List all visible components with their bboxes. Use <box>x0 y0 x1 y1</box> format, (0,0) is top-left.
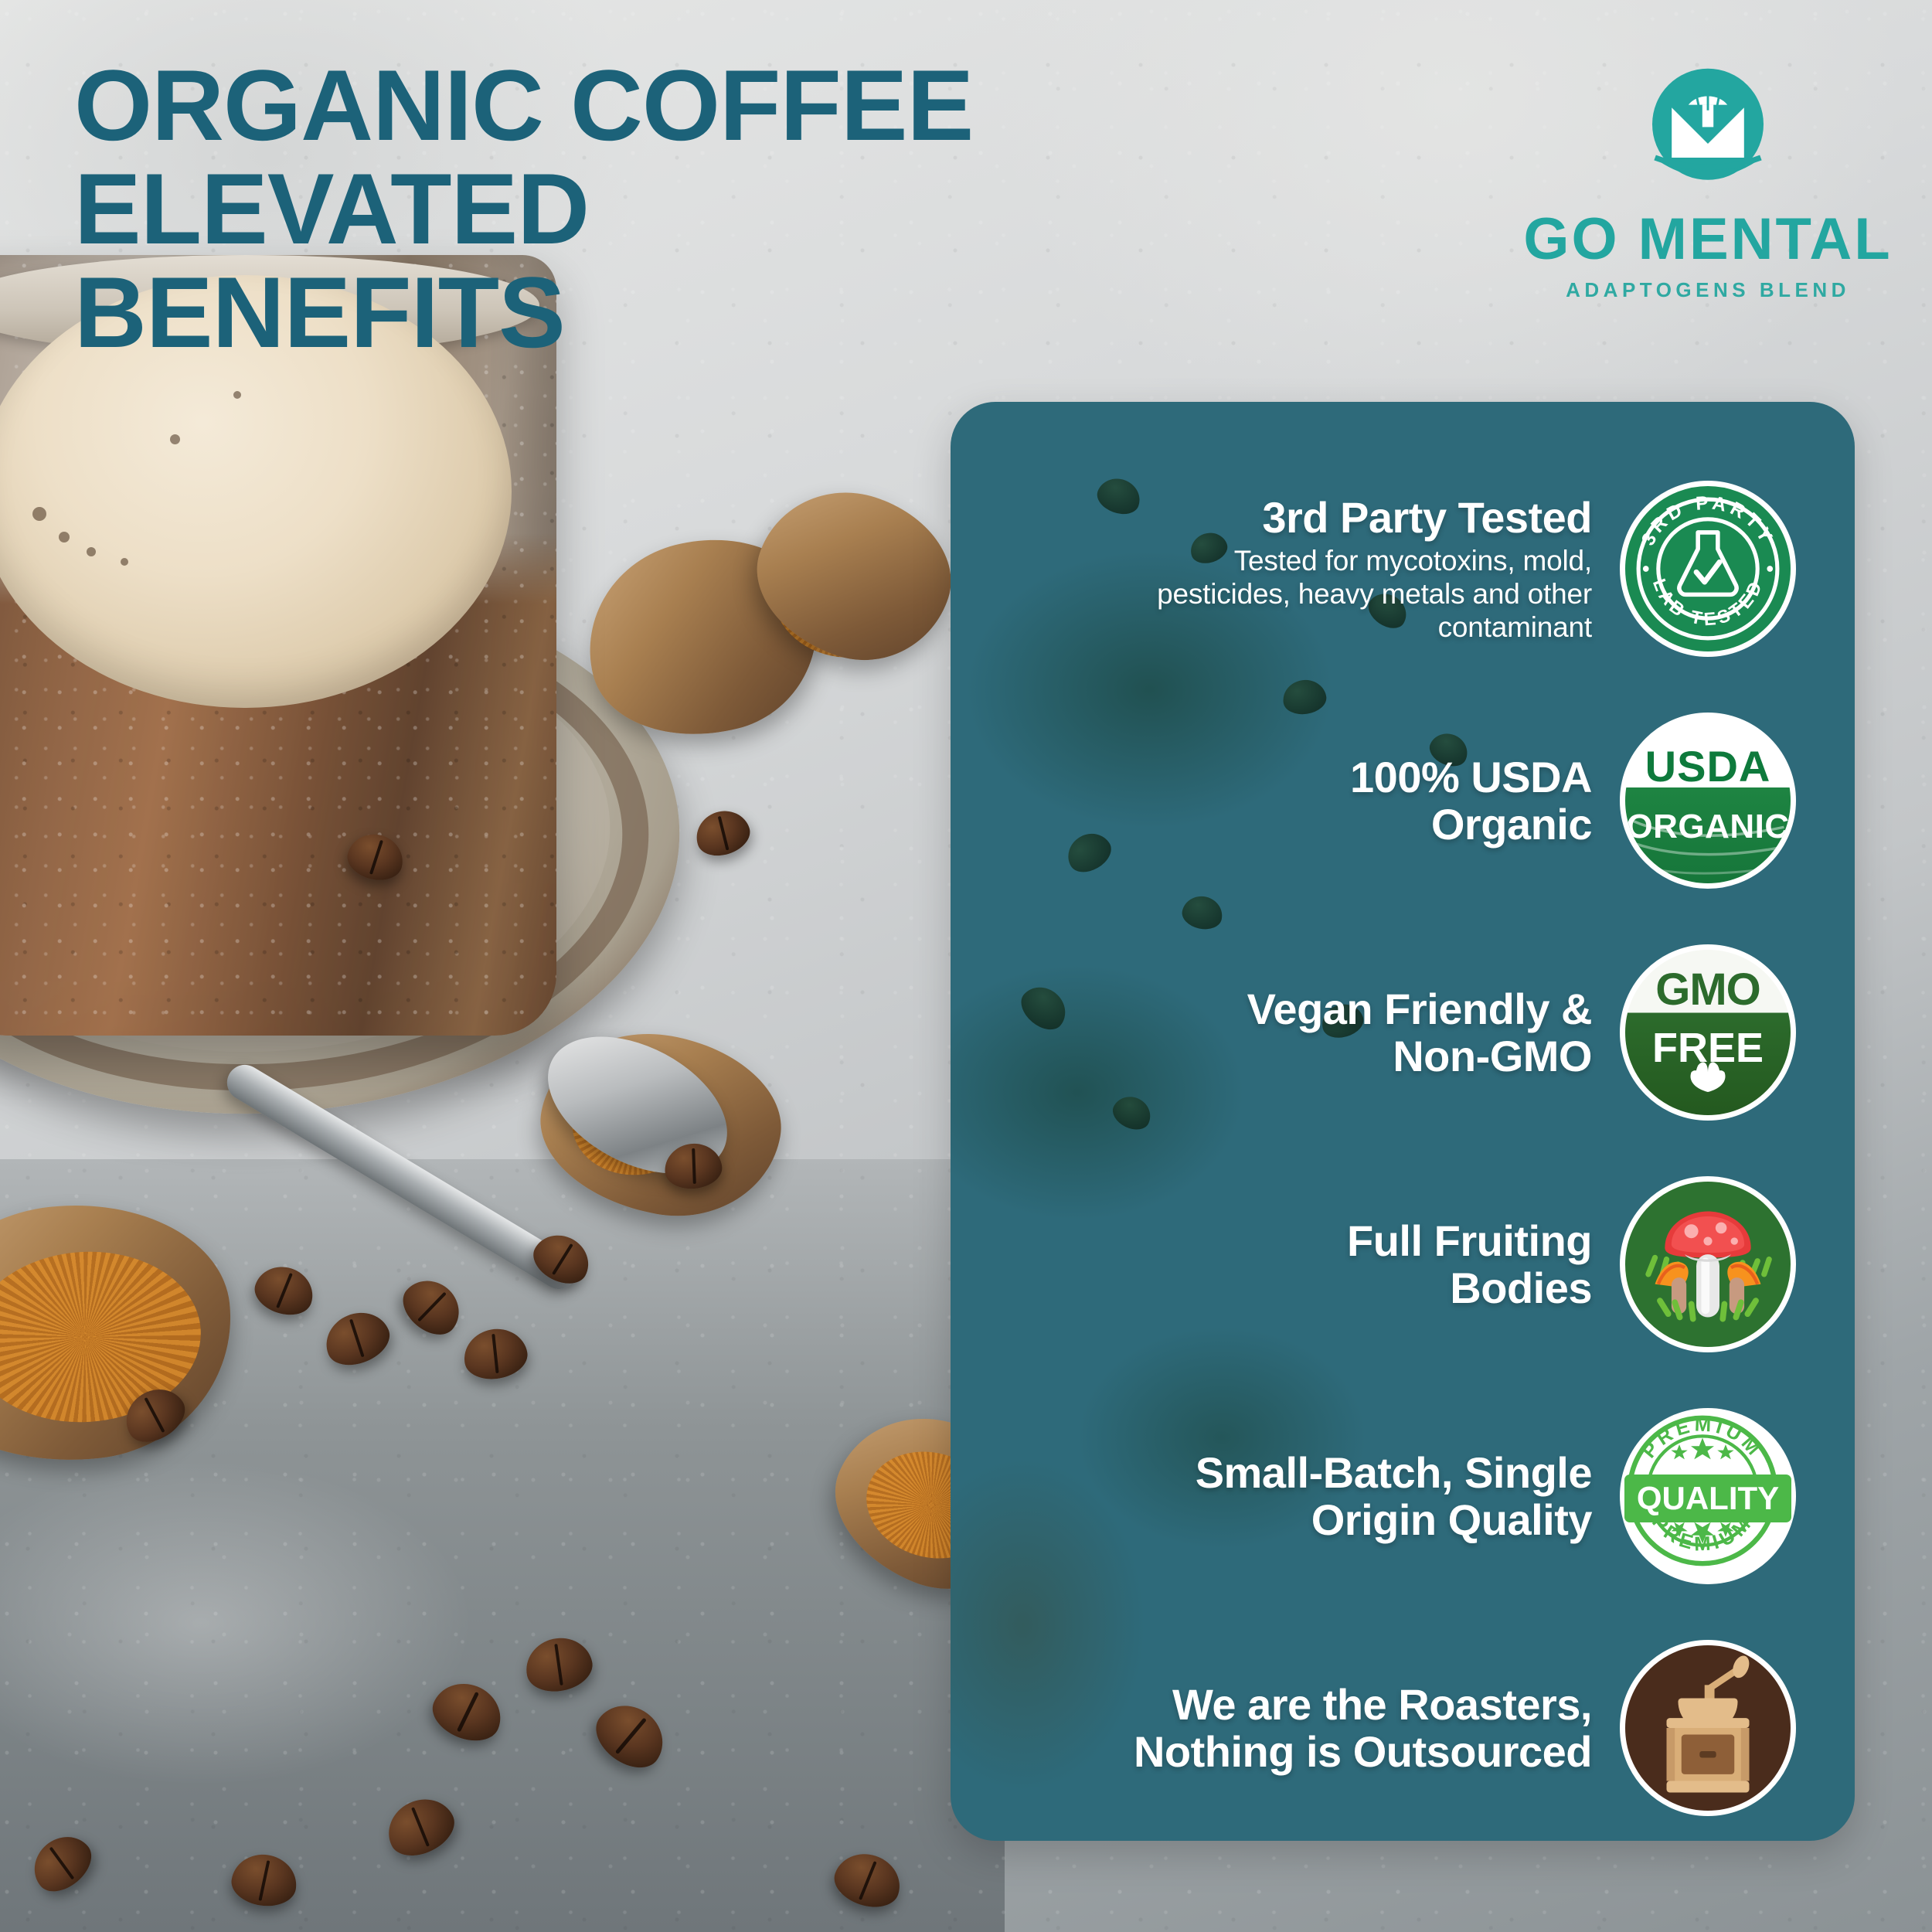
mushroom-icon <box>1620 1176 1796 1352</box>
organic-label: ORGANIC <box>1625 808 1791 846</box>
foam-bubble <box>233 391 241 399</box>
benefit-row-we-are-the-roasters[interactable]: We are the Roasters, Nothing is Outsourc… <box>951 1612 1855 1841</box>
benefit-title: We are the Roasters, Nothing is Outsourc… <box>1105 1681 1592 1775</box>
logo-wordmark: GO MENTAL <box>1507 210 1909 269</box>
logo-tagline: ADAPTOGENS BLEND <box>1507 278 1909 302</box>
logo-mark-icon <box>1638 60 1777 199</box>
page-title: ORGANIC COFFEE ELEVATED BENEFITS <box>74 54 1079 365</box>
coffee-mug <box>0 255 556 1036</box>
foam-bubble <box>32 507 46 521</box>
foam-bubble <box>59 532 70 543</box>
usda-organic-seal-icon: USDA ORGANIC <box>1620 713 1796 889</box>
benefit-description: Tested for mycotoxins, mold, pesticides,… <box>1121 544 1592 645</box>
benefit-title: 100% USDA Organic <box>1236 753 1592 848</box>
quality-banner: QUALITY <box>1624 1475 1791 1522</box>
benefit-text: We are the Roasters, Nothing is Outsourc… <box>1105 1681 1592 1775</box>
benefit-title: Small-Batch, Single Origin Quality <box>1128 1449 1592 1543</box>
coffee-grinder-icon <box>1620 1640 1796 1816</box>
benefit-text: Small-Batch, Single Origin Quality <box>1128 1449 1592 1543</box>
benefit-row-vegan-non-gmo[interactable]: Vegan Friendly & Non-GMO GMO FREE <box>951 917 1855 1148</box>
benefit-title: Full Fruiting Bodies <box>1229 1217 1592 1311</box>
svg-text:LAB TESTED: LAB TESTED <box>1649 576 1767 629</box>
benefit-text: Vegan Friendly & Non-GMO <box>1190 985 1592 1080</box>
benefit-title: Vegan Friendly & Non-GMO <box>1190 985 1592 1080</box>
benefit-text: 3rd Party Tested Tested for mycotoxins, … <box>1121 494 1592 645</box>
benefit-row-usda-organic[interactable]: 100% USDA Organic USDA ORGANIC <box>951 685 1855 917</box>
foam-bubble <box>87 547 96 556</box>
lab-tested-seal-icon: 3RD PARTY LAB TESTED <box>1620 481 1796 657</box>
premium-quality-stamp-icon: PREMIUM PREMIUM QUALITY <box>1620 1408 1796 1584</box>
headline-line-2: ELEVATED BENEFITS <box>74 158 1079 365</box>
usda-label: USDA <box>1625 741 1791 791</box>
quality-label: QUALITY <box>1637 1480 1779 1517</box>
benefit-text: 100% USDA Organic <box>1236 753 1592 848</box>
brand-logo[interactable]: GO MENTAL ADAPTOGENS BLEND <box>1507 60 1909 302</box>
foam-bubble <box>170 434 180 444</box>
headline-line-1: ORGANIC COFFEE <box>74 49 973 162</box>
benefits-panel: 3rd Party Tested Tested for mycotoxins, … <box>951 402 1855 1841</box>
benefit-text: Full Fruiting Bodies <box>1229 1217 1592 1311</box>
foam-bubble <box>121 558 128 566</box>
benefit-title: 3rd Party Tested <box>1121 494 1592 541</box>
benefit-row-small-batch-quality[interactable]: Small-Batch, Single Origin Quality PREMI… <box>951 1380 1855 1612</box>
gmo-free-seal-icon: GMO FREE <box>1620 944 1796 1121</box>
benefit-row-3rd-party-tested[interactable]: 3rd Party Tested Tested for mycotoxins, … <box>951 453 1855 685</box>
benefit-row-full-fruiting-bodies[interactable]: Full Fruiting Bodies <box>951 1148 1855 1380</box>
benefits-list: 3rd Party Tested Tested for mycotoxins, … <box>951 402 1855 1841</box>
